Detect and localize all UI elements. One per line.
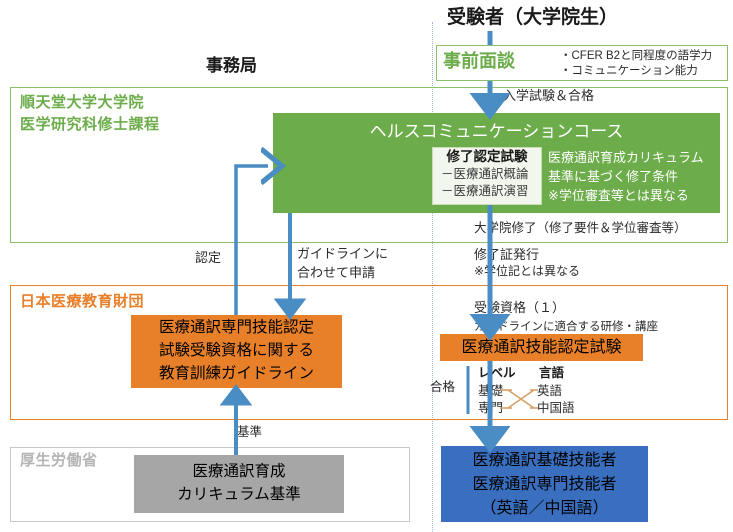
matrix-level-2: 専門 bbox=[478, 401, 503, 416]
annotation-graduation: 大学院修了（修了要件＆学位審査等） bbox=[474, 221, 687, 236]
completion-exam-title: 修了認定試験 bbox=[432, 148, 542, 166]
lane-university-title-line1: 順天堂大学大学院 bbox=[20, 94, 144, 112]
lane-university-title-line2: 医学研究科修士課程 bbox=[20, 116, 160, 134]
annotation-eligibility-line-1: 受験資格（１） bbox=[474, 300, 565, 316]
annotation-certify: 認定 bbox=[195, 250, 221, 266]
guideline-line-3: 教育訓練ガイドライン bbox=[131, 363, 342, 386]
annotation-standard: 基準 bbox=[237, 425, 262, 440]
pre-interview-label: 事前面談 bbox=[443, 51, 515, 73]
lane-foundation-title: 日本医療教育財団 bbox=[20, 293, 144, 311]
matrix-pass-label: 合格 bbox=[430, 380, 455, 395]
guideline-line-2: 試験受験資格に関する bbox=[131, 340, 342, 363]
flowchart-diagram: 受験者（大学院生） 事務局 事前面談 ・CFER B2と同程度の語学力 ・コミュ… bbox=[0, 0, 733, 532]
annotation-apply-line-2: 合わせて申請 bbox=[297, 265, 375, 281]
matrix-col2-header: 言語 bbox=[539, 366, 564, 381]
matrix-level-1: 基礎 bbox=[478, 384, 503, 399]
annotation-eligibility-line-2: ガイドラインに適合する研修・講座 bbox=[474, 320, 658, 334]
course-note-line-2: 基準に基づく修了条件 bbox=[548, 169, 678, 185]
matrix-language-2: 中国語 bbox=[537, 401, 575, 416]
annotation-certificate-line-1: 修了証発行 bbox=[474, 247, 539, 263]
course-note-line-3: ※学位審査等とは異なる bbox=[548, 188, 689, 204]
qualified-line-2: 医療通訳専門技能者 bbox=[441, 472, 648, 497]
annotation-entrance-exam: 入学試験＆合格 bbox=[503, 88, 594, 104]
certification-exam-label: 医療通訳技能認定試験 bbox=[440, 334, 643, 361]
completion-exam-item-2: －医療通訳演習 bbox=[441, 184, 529, 199]
qualified-line-1: 医療通訳基礎技能者 bbox=[441, 448, 648, 473]
course-title: ヘルスコミュニケーションコース bbox=[273, 118, 720, 146]
annotation-certificate-line-2: ※学位記とは異なる bbox=[474, 264, 580, 279]
header-office: 事務局 bbox=[206, 56, 257, 77]
matrix-language-1: 英語 bbox=[537, 384, 562, 399]
header-applicant: 受験者（大学院生） bbox=[447, 6, 618, 29]
pre-interview-bullet-1: ・CFER B2と同程度の語学力 bbox=[560, 49, 712, 63]
curriculum-standard-line-1: 医療通訳育成 bbox=[134, 461, 344, 484]
annotation-apply-line-1: ガイドラインに bbox=[297, 246, 388, 262]
qualified-line-3: （英語／中国語） bbox=[441, 496, 648, 521]
completion-exam-item-1: －医療通訳概論 bbox=[441, 167, 529, 182]
lane-ministry-title: 厚生労働省 bbox=[20, 452, 98, 470]
pre-interview-bullet-2: ・コミュニケーション能力 bbox=[560, 64, 698, 78]
course-note-line-1: 医療通訳育成カリキュラム bbox=[548, 150, 704, 166]
matrix-col1-header: レベル bbox=[478, 366, 516, 381]
curriculum-standard-line-2: カリキュラム基準 bbox=[134, 484, 344, 507]
guideline-line-1: 医療通訳専門技能認定 bbox=[131, 317, 342, 340]
